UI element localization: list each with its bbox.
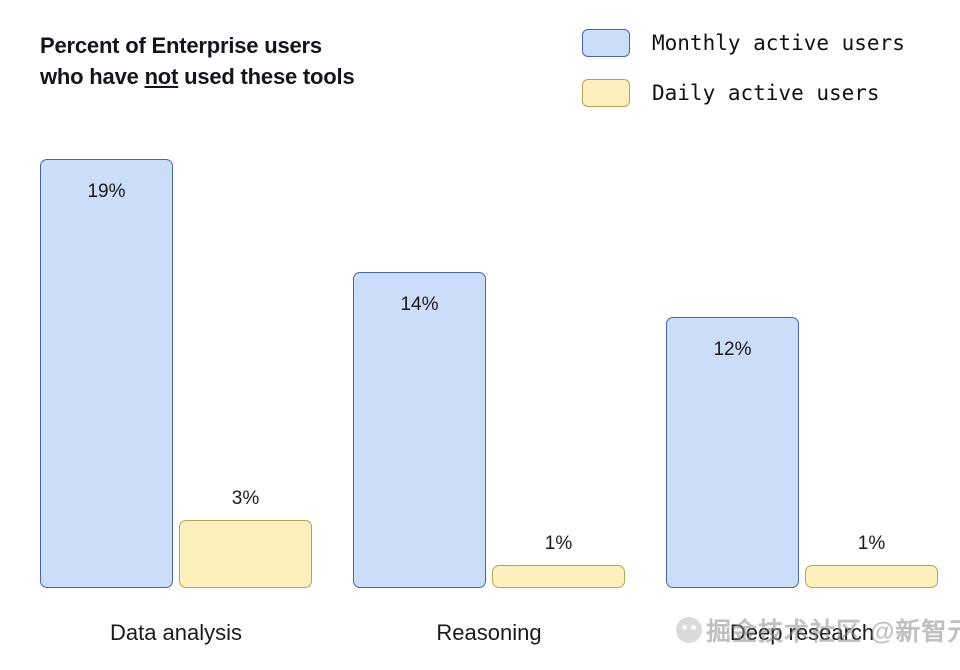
bar-value-label-daily-active-users-deep-research: 1%: [805, 533, 938, 555]
bar-value-label-monthly-active-users-reasoning: 14%: [353, 294, 486, 316]
bar-monthly-active-users-reasoning: [353, 272, 486, 588]
bar-monthly-active-users-data-analysis: [40, 159, 173, 588]
plot-area: 19%3%Data analysis14%1%Reasoning12%1%Dee…: [0, 0, 960, 670]
bar-value-label-monthly-active-users-data-analysis: 19%: [40, 181, 173, 203]
bar-value-label-daily-active-users-data-analysis: 3%: [179, 488, 312, 510]
bar-daily-active-users-deep-research: [805, 565, 938, 588]
bar-value-label-daily-active-users-reasoning: 1%: [492, 533, 625, 555]
bar-chart-figure: Percent of Enterprise users who have not…: [0, 0, 960, 670]
bar-daily-active-users-data-analysis: [179, 520, 312, 588]
bar-daily-active-users-reasoning: [492, 565, 625, 588]
bar-value-label-monthly-active-users-deep-research: 12%: [666, 339, 799, 361]
x-axis-label-data-analysis: Data analysis: [40, 620, 312, 646]
x-axis-label-deep-research: Deep research: [666, 620, 938, 646]
x-axis-label-reasoning: Reasoning: [353, 620, 625, 646]
